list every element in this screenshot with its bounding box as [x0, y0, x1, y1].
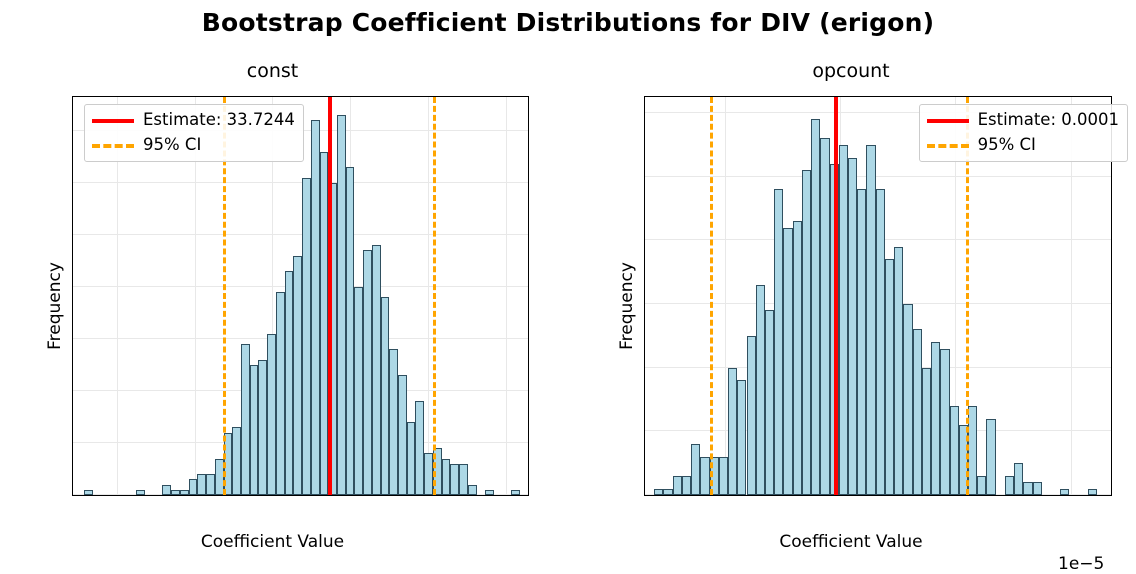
- subplot-title-const: const: [0, 60, 545, 82]
- histogram-bar: [719, 457, 728, 495]
- histogram-bar: [728, 368, 737, 495]
- legend-entry-estimate: Estimate: 0.0001: [927, 110, 1119, 131]
- histogram-bar: [276, 292, 285, 495]
- x-tick-label: 35: [340, 495, 362, 496]
- histogram-bar: [756, 285, 765, 495]
- histogram-bar: [857, 189, 866, 495]
- histogram-bar: [876, 189, 885, 495]
- legend-entry-ci: 95% CI: [92, 135, 295, 156]
- histogram-bar: [802, 170, 811, 495]
- x-tick-mark: [495, 495, 496, 496]
- histogram-bar: [285, 271, 294, 495]
- histogram-bar: [293, 256, 302, 495]
- histogram-bar: [450, 464, 459, 495]
- histogram-bar: [747, 336, 756, 495]
- histogram-bar: [398, 375, 407, 495]
- x-tick-label: 40: [417, 495, 439, 496]
- legend-label-estimate: Estimate: 0.0001: [978, 112, 1119, 129]
- legend-entry-ci: 95% CI: [927, 135, 1119, 156]
- x-tick-label: 20: [106, 495, 128, 496]
- x-tick-mark: [936, 495, 937, 496]
- x-tick-mark: [184, 495, 185, 496]
- histogram-bar: [913, 329, 922, 495]
- x-tick-mark: [706, 495, 707, 496]
- histogram-bar: [1005, 476, 1014, 495]
- histogram-bar: [820, 138, 829, 495]
- histogram-bar: [381, 297, 390, 495]
- histogram-bar: [485, 490, 494, 495]
- histogram-bar: [774, 189, 783, 495]
- histogram-bar: [682, 476, 691, 495]
- histogram-bar: [372, 245, 381, 495]
- histogram-bar: [171, 490, 180, 495]
- histogram-bar: [950, 406, 959, 495]
- histogram-bar: [363, 250, 372, 495]
- histogram-bar: [442, 459, 451, 495]
- histogram-bar: [302, 178, 311, 495]
- x-tick-mark: [417, 495, 418, 496]
- y-axis-label-opcount: Frequency: [617, 206, 637, 406]
- ci-line-swatch: [92, 144, 134, 148]
- histogram-bar: [673, 476, 682, 495]
- histogram-bar: [885, 259, 894, 495]
- histogram-bar: [267, 334, 276, 495]
- histogram-bar: [407, 422, 416, 495]
- histogram-bar: [1033, 482, 1042, 495]
- legend-label-ci: 95% CI: [143, 137, 201, 154]
- x-tick-mark: [262, 495, 263, 496]
- figure-title: Bootstrap Coefficient Distributions for …: [0, 8, 1136, 37]
- x-tick-label: 45: [495, 495, 517, 496]
- histogram-bar: [311, 120, 320, 495]
- histogram-bar: [691, 444, 700, 495]
- histogram-bar: [922, 368, 931, 495]
- histogram-bar: [940, 349, 949, 495]
- histogram-bar: [986, 419, 995, 495]
- x-tick-mark: [106, 495, 107, 496]
- x-tick-label: 30: [262, 495, 284, 496]
- estimate-line: [328, 97, 332, 495]
- legend-entry-estimate: Estimate: 33.7244: [92, 110, 295, 131]
- histogram-bar: [977, 476, 986, 495]
- histogram-bar: [931, 342, 940, 495]
- x-tick-label: 7.15: [1052, 495, 1090, 496]
- histogram-bar: [337, 115, 346, 495]
- figure: Bootstrap Coefficient Distributions for …: [0, 0, 1136, 569]
- x-tick-label: 25: [184, 495, 206, 496]
- subplot-title-opcount: opcount: [566, 60, 1136, 82]
- histogram-bar: [250, 365, 259, 495]
- histogram-bar: [1014, 463, 1023, 495]
- histogram-bar: [1023, 482, 1032, 495]
- histogram-bar: [839, 145, 848, 495]
- histogram-bar: [700, 457, 709, 495]
- x-tick-label: 7.10: [936, 495, 974, 496]
- x-axis-offset-text: 1e−5: [1058, 554, 1104, 574]
- histogram-bar: [783, 228, 792, 495]
- x-axis-label-const: Coefficient Value: [0, 532, 545, 552]
- histogram-bar: [654, 489, 663, 495]
- histogram-bar: [189, 479, 198, 495]
- histogram-bar: [258, 360, 267, 495]
- legend-const: Estimate: 33.7244 95% CI: [84, 104, 304, 162]
- histogram-bar: [459, 464, 468, 495]
- panel-opcount: opcount Frequency Coefficient Value 1e−5…: [566, 60, 1136, 565]
- histogram-bar: [737, 380, 746, 495]
- x-tick-label: 7.00: [706, 495, 744, 496]
- histogram-bar: [848, 158, 857, 496]
- ci_upper-line: [433, 97, 436, 495]
- histogram-bar: [241, 344, 250, 495]
- x-tick-mark: [340, 495, 341, 496]
- histogram-bar: [84, 490, 93, 495]
- histogram-bar: [197, 474, 206, 495]
- histogram-bar: [232, 427, 241, 495]
- histogram-bar: [346, 167, 355, 495]
- histogram-bar: [468, 485, 477, 495]
- ci_lower-line: [710, 97, 713, 495]
- y-axis-label-const: Frequency: [45, 206, 65, 406]
- histogram-bar: [136, 490, 145, 495]
- histogram-bar: [415, 401, 424, 495]
- histogram-bar: [162, 485, 171, 495]
- estimate-line-swatch: [927, 119, 969, 123]
- histogram-bar: [894, 247, 903, 495]
- estimate-line-swatch: [92, 119, 134, 123]
- histogram-bar: [663, 489, 672, 495]
- estimate-line: [834, 97, 838, 495]
- histogram-bar: [320, 152, 329, 495]
- histogram-bar: [903, 304, 912, 495]
- histogram-bar: [206, 474, 215, 495]
- histogram-bar: [765, 310, 774, 495]
- histogram-bar: [793, 221, 802, 495]
- legend-label-ci: 95% CI: [978, 137, 1036, 154]
- legend-opcount: Estimate: 0.0001 95% CI: [919, 104, 1128, 162]
- histogram-bar: [424, 453, 433, 495]
- x-axis-label-opcount: Coefficient Value: [566, 532, 1136, 552]
- histogram-bar: [811, 119, 820, 495]
- legend-label-estimate: Estimate: 33.7244: [143, 112, 295, 129]
- histogram-bar: [354, 287, 363, 495]
- histogram-bar: [389, 349, 398, 495]
- histogram-bar: [866, 145, 875, 495]
- ci-line-swatch: [927, 144, 969, 148]
- panel-const: const Frequency Coefficient Value 010203…: [0, 60, 545, 565]
- x-tick-mark: [1052, 495, 1053, 496]
- x-tick-label: 7.05: [821, 495, 859, 496]
- x-tick-mark: [821, 495, 822, 496]
